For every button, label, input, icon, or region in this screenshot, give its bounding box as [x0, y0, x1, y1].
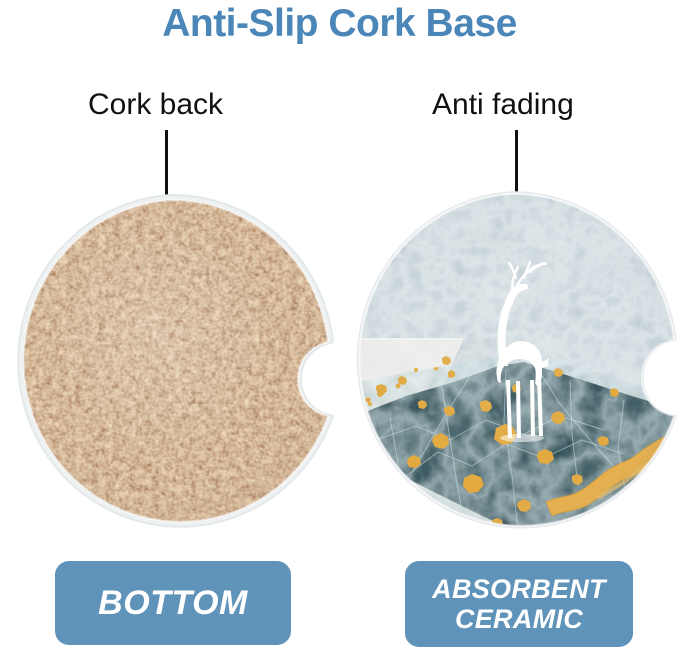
- cork-coaster-image: [6, 192, 336, 530]
- callout-label-cork-back: Cork back: [88, 88, 223, 122]
- badge-bottom-label: BOTTOM: [98, 584, 248, 622]
- ceramic-coaster-image: [346, 190, 678, 530]
- badge-bottom: BOTTOM: [55, 561, 291, 645]
- badge-absorbent-ceramic: ABSORBENT CERAMIC: [405, 561, 633, 647]
- callout-label-anti-fading: Anti fading: [432, 88, 574, 122]
- product-infographic: Anti-Slip Cork Base Cork back Anti fadin…: [0, 0, 679, 649]
- page-title: Anti-Slip Cork Base: [0, 2, 679, 46]
- badge-absorbent-line1: ABSORBENT: [432, 574, 606, 604]
- badge-absorbent-line2: CERAMIC: [432, 604, 606, 634]
